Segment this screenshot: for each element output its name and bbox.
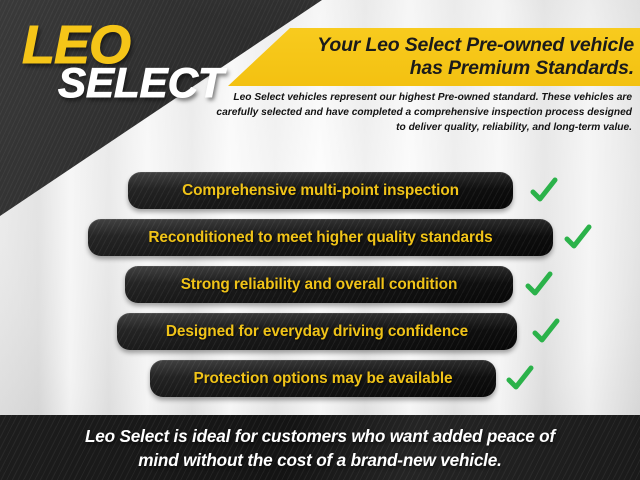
feature-pill-2[interactable]: Reconditioned to meet higher quality sta… xyxy=(88,219,553,256)
slide-canvas: LEO SELECT Your Leo Select Pre-owned veh… xyxy=(0,0,640,480)
feature-pill-1-label: Comprehensive multi-point inspection xyxy=(182,182,459,200)
footer-text: Leo Select is ideal for customers who wa… xyxy=(85,424,555,472)
footer-banner: Leo Select is ideal for customers who wa… xyxy=(0,415,640,480)
feature-pill-2-label: Reconditioned to meet higher quality sta… xyxy=(148,229,492,247)
feature-pill-3[interactable]: Strong reliability and overall condition xyxy=(125,266,513,303)
feature-pill-4-label: Designed for everyday driving confidence xyxy=(166,323,468,341)
check-icon-5 xyxy=(504,363,536,395)
feature-pill-5[interactable]: Protection options may be available xyxy=(150,360,496,397)
feature-pill-5-label: Protection options may be available xyxy=(193,370,452,388)
check-icon-3 xyxy=(523,269,555,301)
check-icon-2 xyxy=(562,222,594,254)
check-icon-4 xyxy=(530,316,562,348)
feature-list: Comprehensive multi-point inspection Rec… xyxy=(0,0,640,480)
feature-pill-3-label: Strong reliability and overall condition xyxy=(181,276,458,294)
check-icon-1 xyxy=(528,175,560,207)
feature-pill-1[interactable]: Comprehensive multi-point inspection xyxy=(128,172,513,209)
feature-pill-4[interactable]: Designed for everyday driving confidence xyxy=(117,313,517,350)
